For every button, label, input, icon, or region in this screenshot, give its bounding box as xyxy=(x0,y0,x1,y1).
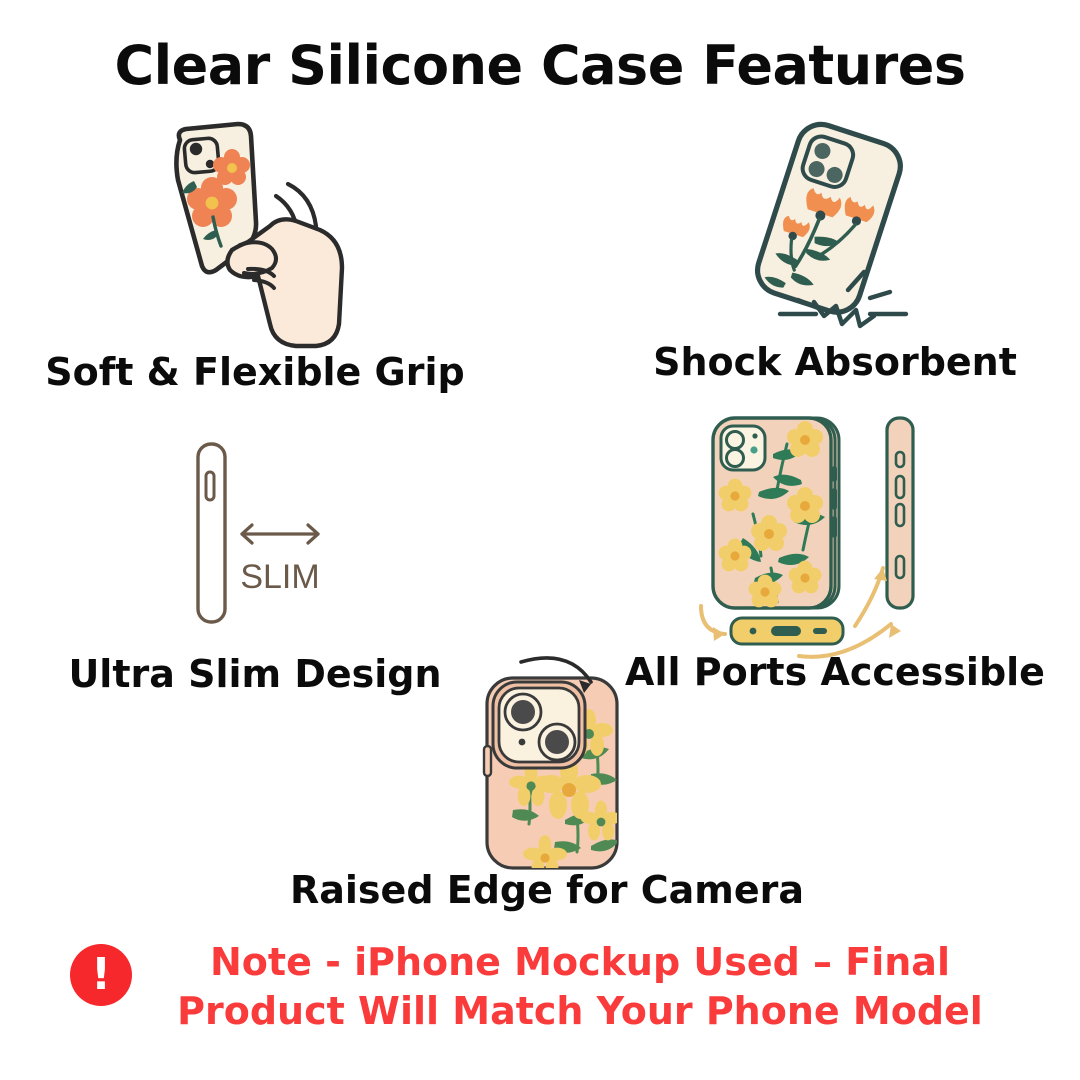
feature-label-raised-edge-for-camera: Raised Edge for Camera xyxy=(290,868,790,912)
feature-soft-flexible-grip: Soft & Flexible Grip xyxy=(20,118,490,408)
feature-label-shock-absorbent: Shock Absorbent xyxy=(600,340,1070,384)
feature-shock-absorbent: Shock Absorbent xyxy=(600,118,1070,408)
infographic-page: Clear Silicone Case Features xyxy=(0,0,1080,1080)
exclamation-glyph: ! xyxy=(91,953,111,997)
hand-holding-flexing-phone-case-icon xyxy=(120,118,390,348)
slim-caption: SLIM xyxy=(240,558,319,596)
exclamation-circle-icon: ! xyxy=(70,944,132,1006)
phone-side-profile-thickness-arrow-icon: SLIM xyxy=(190,438,350,628)
phone-back-side-and-bottom-ports-icon xyxy=(695,410,945,660)
feature-label-soft-flexible-grip: Soft & Flexible Grip xyxy=(20,350,490,394)
phone-dropping-impact-burst-icon xyxy=(718,118,968,338)
page-title: Clear Silicone Case Features xyxy=(0,34,1080,97)
feature-raised-edge-for-camera: Raised Edge for Camera xyxy=(290,650,790,920)
note-text: Note - iPhone Mockup Used – Final Produc… xyxy=(150,938,1010,1035)
note-banner: ! Note - iPhone Mockup Used – Final Prod… xyxy=(0,938,1080,1035)
phone-raised-camera-bezel-arrow-icon xyxy=(465,650,665,865)
